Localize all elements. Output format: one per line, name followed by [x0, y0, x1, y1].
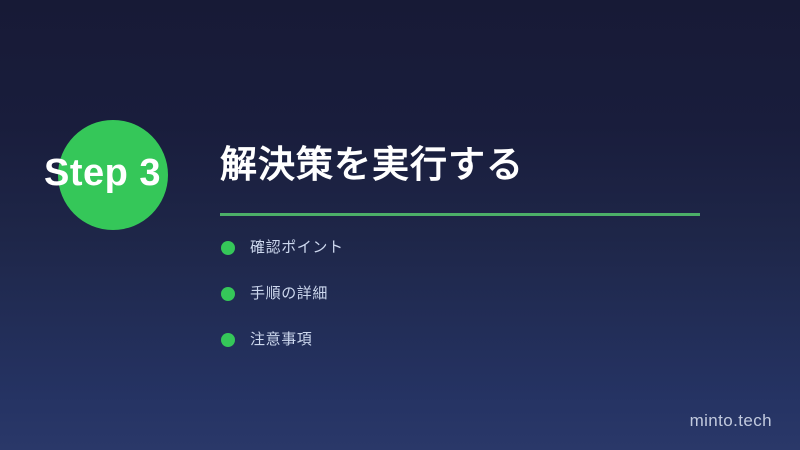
bullet-dot-icon	[221, 333, 235, 347]
list-item: 確認ポイント	[221, 236, 691, 260]
bullet-label: 確認ポイント	[250, 236, 344, 260]
list-item: 手順の詳細	[221, 282, 691, 306]
step-label: Step 3	[44, 150, 214, 196]
watermark-text: minto.tech	[690, 411, 772, 431]
title-divider	[220, 213, 700, 216]
bullet-dot-icon	[221, 287, 235, 301]
slide-canvas: Step 3 解決策を実行する 確認ポイント 手順の詳細 注意事項 minto.…	[0, 0, 800, 450]
heading-block: 解決策を実行する	[220, 140, 720, 216]
bullet-dot-icon	[221, 241, 235, 255]
bullet-list: 確認ポイント 手順の詳細 注意事項	[221, 236, 691, 374]
slide-title: 解決策を実行する	[220, 140, 720, 190]
list-item: 注意事項	[221, 328, 691, 352]
bullet-label: 注意事項	[250, 328, 312, 352]
bullet-label: 手順の詳細	[250, 282, 328, 306]
